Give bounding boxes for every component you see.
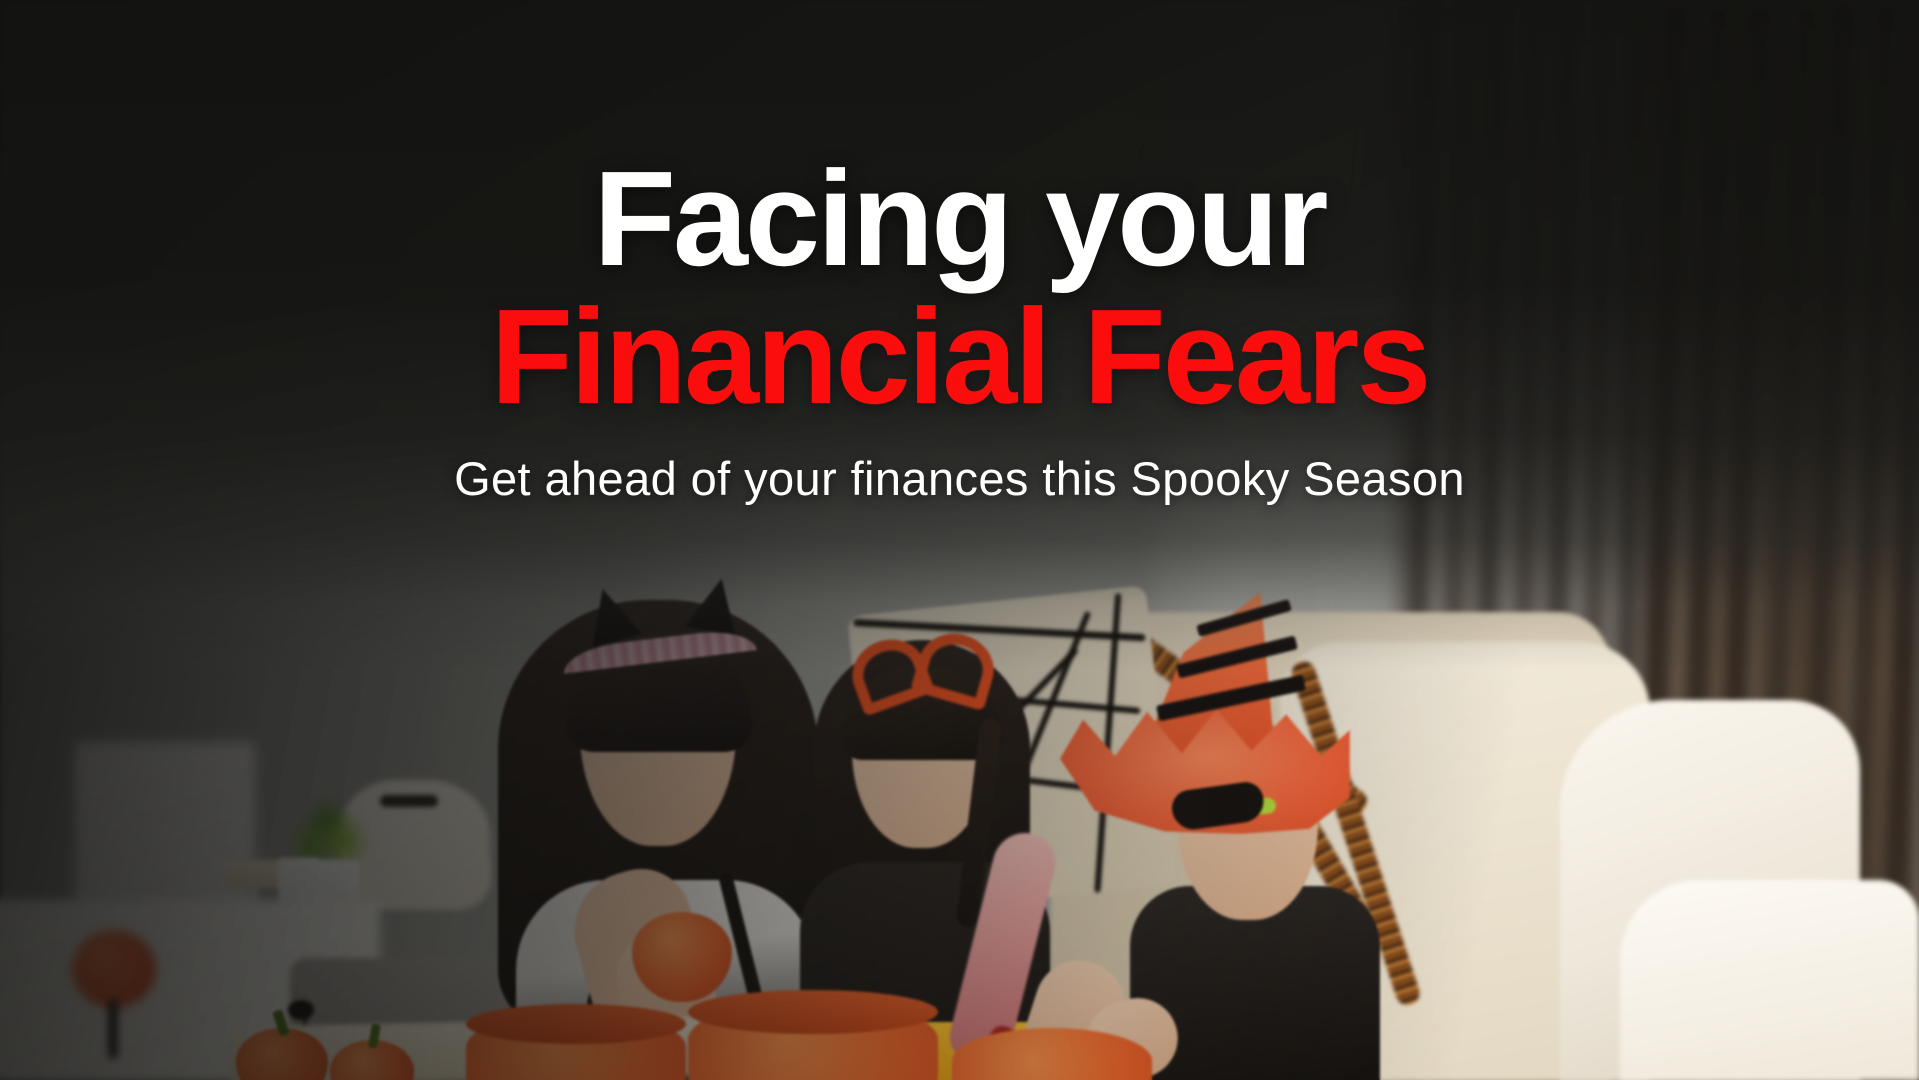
- pumpkin-on-stand: [72, 930, 156, 1008]
- halloween-promo-banner: Facing your Financial Fears Get ahead of…: [0, 0, 1919, 1080]
- couch-armrest-front: [1620, 880, 1919, 1080]
- ghost-decoration-tie: [380, 795, 438, 807]
- page-subtitle: Get ahead of your finances this Spooky S…: [0, 451, 1919, 506]
- headline-line-2: Financial Fears: [0, 288, 1919, 426]
- web-strand: [853, 619, 1145, 641]
- pumpkin-stand-post: [108, 1000, 118, 1058]
- potted-plant-leaves: [286, 794, 370, 868]
- page-title: Facing your Financial Fears: [0, 150, 1919, 425]
- plastic-spider: [288, 1000, 314, 1020]
- pumpkin-bucket-rim: [466, 1004, 686, 1044]
- headline-block: Facing your Financial Fears Get ahead of…: [0, 150, 1919, 506]
- pumpkin-bucket-rim: [688, 990, 938, 1034]
- headline-line-1: Facing your: [593, 143, 1325, 294]
- cat-ear-icon: [685, 573, 747, 637]
